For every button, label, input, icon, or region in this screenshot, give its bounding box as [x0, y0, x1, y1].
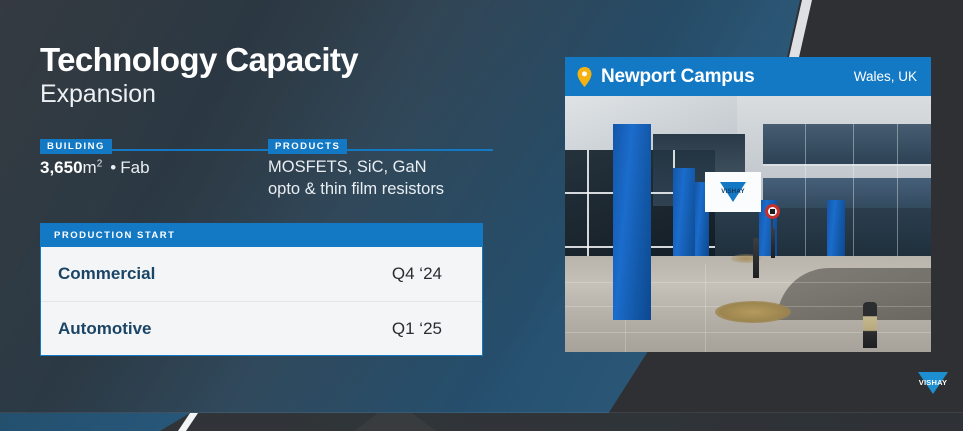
photo-pillar	[827, 200, 845, 258]
photo-bollard	[753, 238, 759, 278]
products-badge-row: PRODUCTS	[268, 136, 493, 151]
photo-paving-line	[705, 264, 706, 352]
bottom-strip	[0, 413, 963, 431]
row-value-commercial: Q4 ‘24	[392, 264, 442, 284]
building-area: 3,650m2•Fab	[40, 158, 268, 178]
photo-bollard	[863, 302, 877, 348]
photo-mullion	[763, 164, 931, 166]
photo-pillar-main	[613, 124, 651, 320]
row-value-automotive: Q1 ‘25	[392, 319, 442, 339]
building-badge-row: BUILDING	[40, 136, 268, 151]
photo-glass-band	[763, 124, 931, 164]
campus-photo-image: VISHAY	[565, 96, 931, 352]
photo-mullion	[853, 124, 854, 266]
campus-title: Newport Campus	[601, 66, 754, 88]
left-content: Technology Capacity Expansion BUILDING 3…	[40, 42, 510, 356]
photo-mullion	[897, 124, 898, 266]
vishay-logo: VISHAY	[913, 372, 953, 398]
table-row: Commercial Q4 ‘24	[41, 247, 482, 301]
building-badge: BUILDING	[40, 139, 112, 154]
spec-columns: BUILDING 3,650m2•Fab PRODUCTS MOSFETS, S…	[40, 136, 510, 202]
production-start-header: PRODUCTION START	[41, 224, 482, 247]
production-start-table: PRODUCTION START Commercial Q4 ‘24 Autom…	[40, 223, 483, 356]
building-area-value: 3,650	[40, 158, 83, 177]
page-title: Technology Capacity	[40, 42, 510, 78]
building-bullet: •	[110, 158, 116, 177]
photo-vishay-sign: VISHAY	[705, 172, 761, 212]
products-column: PRODUCTS MOSFETS, SiC, GaN opto & thin f…	[268, 136, 493, 202]
vishay-sign-text: VISHAY	[721, 189, 745, 195]
page-subtitle: Expansion	[40, 80, 510, 109]
products-line-1: MOSFETS, SiC, GaN	[268, 157, 493, 179]
vishay-wordmark: VISHAY	[913, 378, 953, 387]
slide-canvas: Technology Capacity Expansion BUILDING 3…	[0, 0, 963, 431]
building-type: Fab	[120, 158, 149, 177]
products-line-2: opto & thin film resistors	[268, 179, 493, 201]
photo-gravel-patch	[715, 301, 791, 323]
campus-photo-header: Newport Campus Wales, UK	[565, 57, 931, 96]
photo-roadway	[777, 268, 931, 320]
campus-region: Wales, UK	[854, 69, 917, 84]
row-label-automotive: Automotive	[58, 319, 152, 339]
photo-bollard	[771, 228, 775, 258]
row-label-commercial: Commercial	[58, 264, 155, 284]
bottom-strip-notch	[330, 413, 460, 431]
building-area-exponent: 2	[97, 158, 103, 169]
table-row: Automotive Q1 ‘25	[41, 301, 482, 355]
bottom-strip-blue-corner	[0, 413, 200, 431]
photo-traffic-sign-glyph	[770, 209, 775, 214]
building-column: BUILDING 3,650m2•Fab	[40, 136, 268, 202]
building-area-unit: m	[83, 158, 97, 177]
photo-traffic-sign	[765, 204, 780, 219]
location-pin-icon	[577, 67, 592, 87]
photo-mullion	[805, 124, 806, 266]
products-badge: PRODUCTS	[268, 139, 347, 154]
campus-photo-card: Newport Campus Wales, UK	[565, 57, 931, 352]
